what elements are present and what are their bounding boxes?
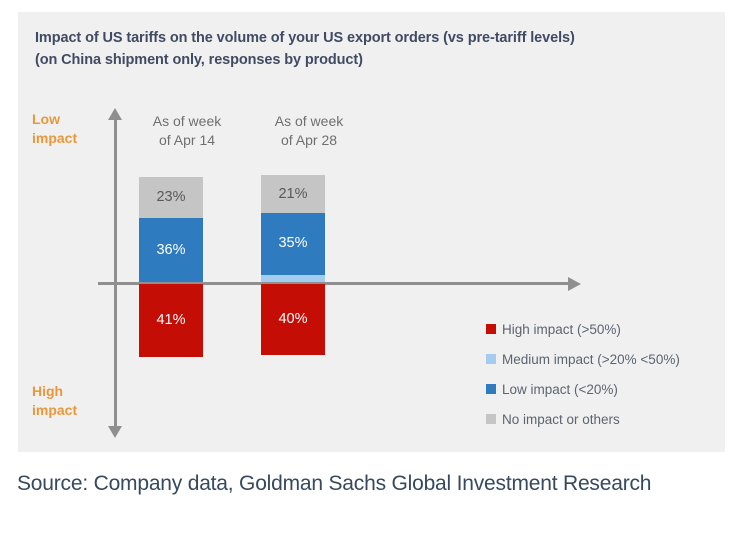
axis-label-high-impact-line2: impact: [32, 402, 77, 418]
x-axis-arrow-right-icon: [568, 277, 581, 291]
chart-title-line1: Impact of US tariffs on the volume of yo…: [35, 30, 575, 46]
axis-label-low-impact: Low impact: [32, 110, 96, 148]
bar-segment-label-no-impact-apr-28: 21%: [278, 187, 307, 202]
bar-segment-no-impact-apr-28: 21%: [261, 175, 325, 212]
legend-label-medium-impact: Medium impact (>20% <50%): [502, 352, 680, 367]
bar-segment-high-impact-apr-28: 40%: [261, 284, 325, 355]
column-header-apr-28: As of week of Apr 28: [244, 112, 374, 150]
legend-label-high-impact: High impact (>50%): [502, 322, 621, 337]
column-header-apr-14-line1: As of week: [122, 112, 252, 131]
axis-label-low-impact-line2: impact: [32, 130, 77, 146]
source-note: Source: Company data, Goldman Sachs Glob…: [17, 468, 717, 499]
chart-title: Impact of US tariffs on the volume of yo…: [35, 27, 715, 71]
bar-stack-below-axis-apr-28: 40%: [261, 284, 325, 355]
column-header-apr-28-line2: of Apr 28: [244, 131, 374, 150]
bar-stack-above-axis-apr-28: 21%35%: [261, 175, 325, 282]
legend-item-medium-impact[interactable]: Medium impact (>20% <50%): [486, 344, 736, 374]
legend-item-high-impact[interactable]: High impact (>50%): [486, 314, 736, 344]
chart-subtitle: (on China shipment only, responses by pr…: [35, 49, 715, 71]
bar-segment-label-high-impact-apr-28: 40%: [278, 312, 307, 327]
chart-legend: High impact (>50%)Medium impact (>20% <5…: [486, 314, 736, 434]
y-axis-line: [114, 118, 117, 428]
bar-segment-low-impact-apr-28: 35%: [261, 213, 325, 275]
legend-swatch-no-impact: [486, 414, 496, 424]
legend-label-low-impact: Low impact (<20%): [502, 382, 618, 397]
column-header-apr-14: As of week of Apr 14: [122, 112, 252, 150]
legend-item-no-impact[interactable]: No impact or others: [486, 404, 736, 434]
legend-swatch-high-impact: [486, 324, 496, 334]
legend-label-no-impact: No impact or others: [502, 412, 620, 427]
bar-segment-label-no-impact-apr-14: 23%: [156, 190, 185, 205]
bar-stack-below-axis-apr-14: 41%: [139, 284, 203, 357]
bar-column-apr-14: 23%36% 41%: [139, 177, 203, 355]
bar-segment-medium-impact-apr-28: [261, 275, 325, 282]
column-header-apr-28-line1: As of week: [244, 112, 374, 131]
bar-segment-low-impact-apr-14: 36%: [139, 218, 203, 282]
column-header-apr-14-line2: of Apr 14: [122, 131, 252, 150]
y-axis-arrow-down-icon: [108, 426, 122, 438]
axis-label-low-impact-line1: Low: [32, 111, 60, 127]
bar-segment-high-impact-apr-14: 41%: [139, 284, 203, 357]
bar-column-apr-28: 21%35% 40%: [261, 175, 325, 353]
legend-swatch-low-impact: [486, 384, 496, 394]
bar-stack-above-axis-apr-14: 23%36%: [139, 177, 203, 282]
y-axis-arrow-up-icon: [108, 108, 122, 120]
bar-segment-label-low-impact-apr-28: 35%: [278, 236, 307, 251]
bar-segment-label-high-impact-apr-14: 41%: [156, 313, 185, 328]
axis-label-high-impact: High impact: [32, 382, 96, 420]
bar-segment-no-impact-apr-14: 23%: [139, 177, 203, 218]
axis-label-high-impact-line1: High: [32, 383, 63, 399]
legend-item-low-impact[interactable]: Low impact (<20%): [486, 374, 736, 404]
legend-swatch-medium-impact: [486, 354, 496, 364]
chart-panel: Impact of US tariffs on the volume of yo…: [18, 12, 725, 452]
bar-segment-label-low-impact-apr-14: 36%: [156, 243, 185, 258]
